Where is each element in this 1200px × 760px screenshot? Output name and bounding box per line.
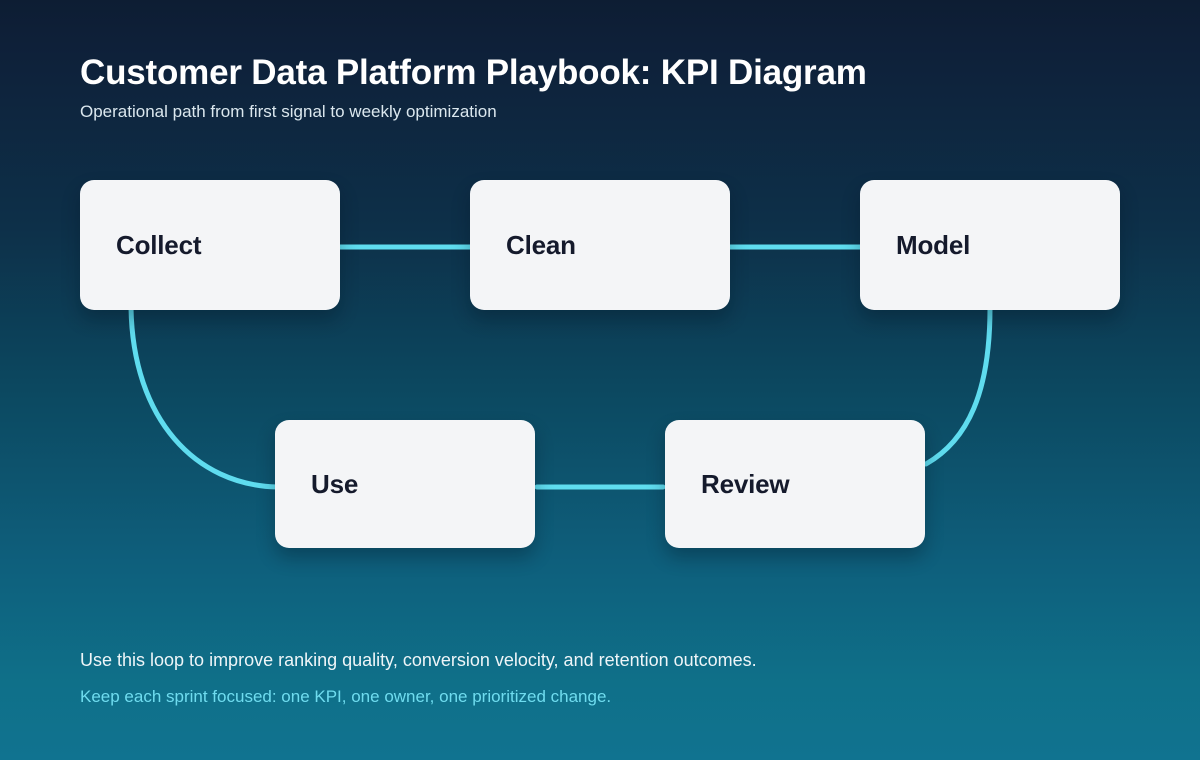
node-collect[interactable]: Collect [80,180,340,310]
node-use[interactable]: Use [275,420,535,548]
node-collect-label: Collect [116,230,201,260]
node-model[interactable]: Model [860,180,1120,310]
footer-primary-text: Use this loop to improve ranking quality… [80,648,1120,673]
edge-model-to-review [926,308,990,464]
diagram-connectors [0,0,1200,760]
node-clean-label: Clean [506,230,576,260]
node-use-label: Use [311,469,358,499]
edge-use-to-collect [131,308,277,487]
node-review-label: Review [701,469,789,499]
node-review[interactable]: Review [665,420,925,548]
footer: Use this loop to improve ranking quality… [80,648,1120,708]
footer-secondary-text: Keep each sprint focused: one KPI, one o… [80,673,1120,708]
node-model-label: Model [896,230,970,260]
kpi-flow-diagram: Collect Clean Model Use Review [0,0,1200,760]
node-clean[interactable]: Clean [470,180,730,310]
diagram-canvas: Customer Data Platform Playbook: KPI Dia… [0,0,1200,760]
